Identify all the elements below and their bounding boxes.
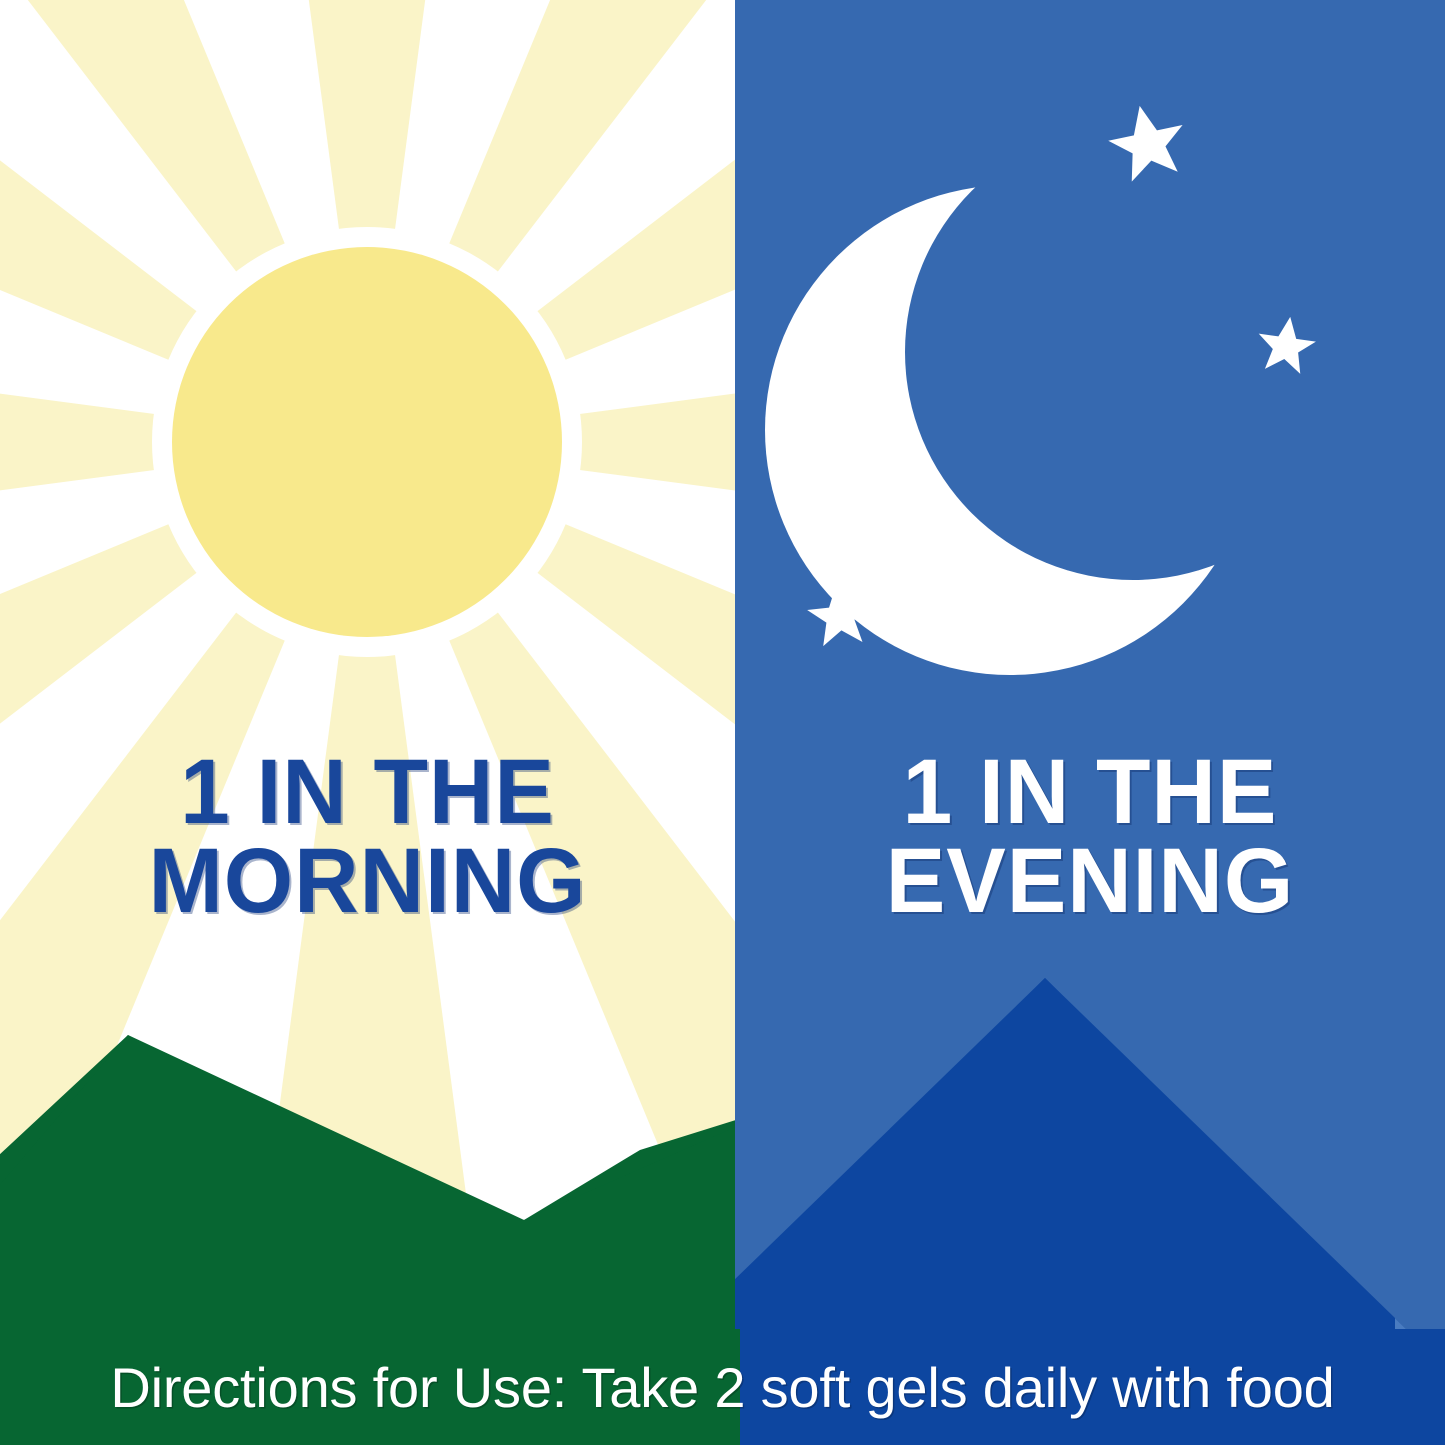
morning-scene-graphic xyxy=(0,0,735,1445)
morning-panel: 1 IN THE MORNING xyxy=(0,0,735,1445)
sun-icon xyxy=(172,247,562,637)
dosage-instruction-poster: 1 IN THE MORNING xyxy=(0,0,1445,1445)
evening-headline: 1 IN THE EVENING xyxy=(746,748,1435,926)
morning-headline: 1 IN THE MORNING xyxy=(11,748,724,926)
evening-panel: 1 IN THE EVENING xyxy=(735,0,1445,1445)
directions-banner: Directions for Use: Take 2 soft gels dai… xyxy=(0,1329,1445,1445)
evening-scene-graphic xyxy=(735,0,1445,1445)
directions-text: Directions for Use: Take 2 soft gels dai… xyxy=(0,1329,1445,1445)
